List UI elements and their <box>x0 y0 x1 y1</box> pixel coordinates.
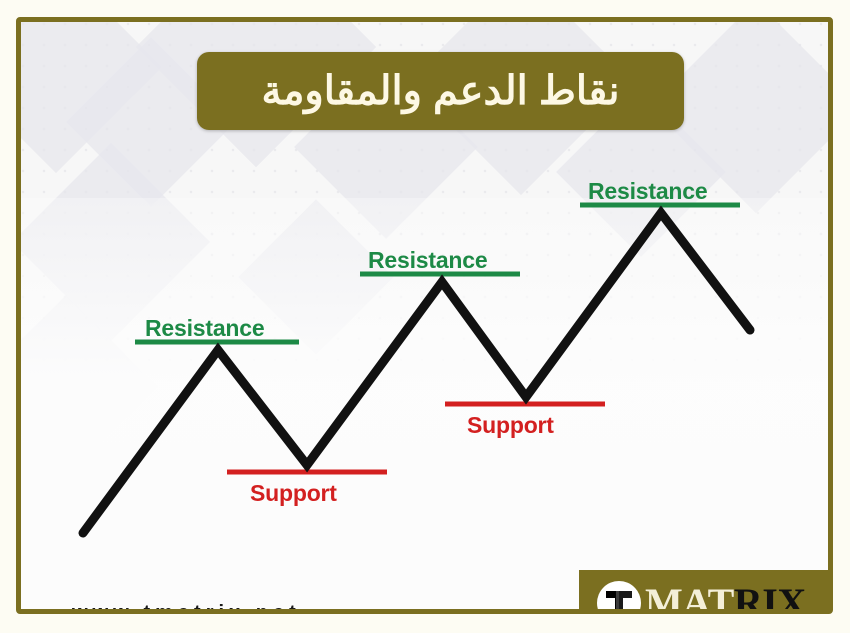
resistance-label: Resistance <box>145 315 264 342</box>
title-banner: نقاط الدعم والمقاومة <box>197 52 684 130</box>
content-frame: نقاط الدعم والمقاومة ResistanceSupportRe… <box>16 17 833 614</box>
resistance-label: Resistance <box>588 178 707 205</box>
t-circle-icon <box>597 581 641 614</box>
support-label: Support <box>250 480 337 507</box>
brand-logo[interactable]: MATRIX <box>579 570 833 614</box>
brand-word-primary: MAT <box>645 580 734 614</box>
support-label: Support <box>467 412 554 439</box>
site-url[interactable]: www.tmatrix.net <box>72 602 301 614</box>
brand-word-secondary: RIX <box>734 580 806 614</box>
brand-wordmark: MATRIX <box>645 583 806 614</box>
infographic-root: نقاط الدعم والمقاومة ResistanceSupportRe… <box>0 0 850 633</box>
resistance-label: Resistance <box>368 247 487 274</box>
page-title: نقاط الدعم والمقاومة <box>262 71 620 111</box>
